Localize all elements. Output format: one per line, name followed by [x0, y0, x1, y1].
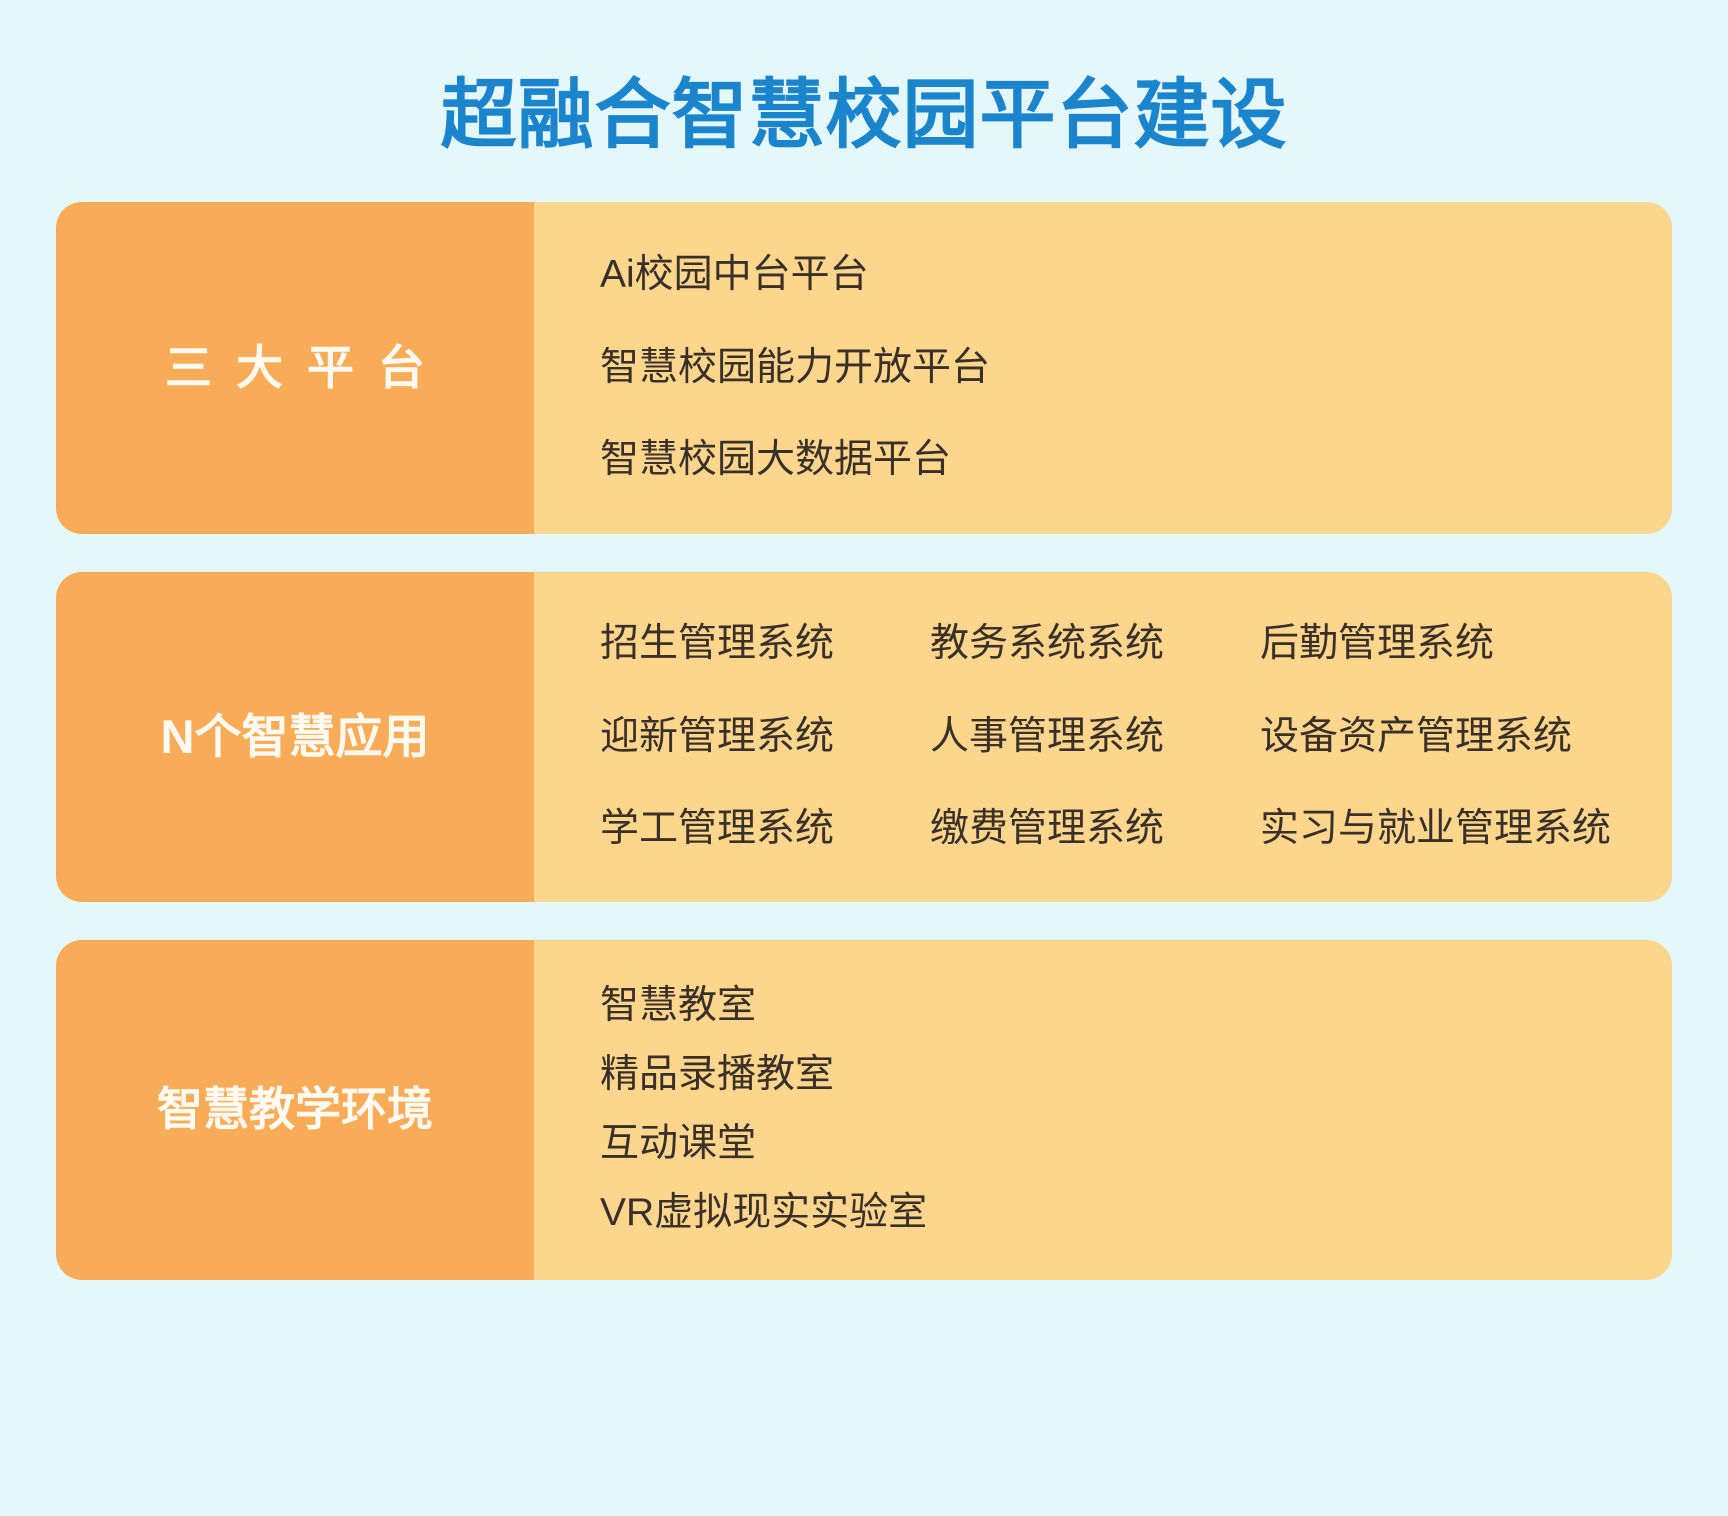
list-item: 互动课堂 — [600, 1124, 1672, 1165]
card-label-text-platforms: 三大平台 — [141, 340, 449, 396]
list-item: 设备资产管理系统 — [1260, 717, 1672, 758]
list-item: 实习与就业管理系统 — [1260, 809, 1672, 850]
list-item: Ai校园中台平台 — [600, 255, 1672, 296]
list-item: 智慧校园大数据平台 — [600, 440, 1672, 481]
card-label-panel-environment: 智慧教学环境 — [56, 940, 534, 1280]
card-teaching-environment: 智慧教学环境 智慧教室 精品录播教室 互动课堂 VR虚拟现实实验室 — [56, 940, 1672, 1280]
card-label-panel-platforms: 三大平台 — [56, 202, 534, 534]
list-item: 教务系统系统 — [930, 624, 1260, 665]
bottom-spacer — [52, 1280, 1676, 1366]
card-body-applications: 招生管理系统 教务系统系统 后勤管理系统 迎新管理系统 人事管理系统 设备资产管… — [534, 572, 1672, 902]
cards-container: 三大平台 Ai校园中台平台 智慧校园能力开放平台 智慧校园大数据平台 N个智慧应… — [52, 202, 1676, 1280]
list-item: 智慧教室 — [600, 986, 1672, 1027]
card-smart-applications: N个智慧应用 招生管理系统 教务系统系统 后勤管理系统 迎新管理系统 人事管理系… — [56, 572, 1672, 902]
list-item: 学工管理系统 — [600, 809, 930, 850]
card-body-platforms: Ai校园中台平台 智慧校园能力开放平台 智慧校园大数据平台 — [534, 202, 1672, 534]
list-item: VR虚拟现实实验室 — [600, 1193, 1672, 1234]
list-item: 智慧校园能力开放平台 — [600, 348, 1672, 389]
infographic-page: 超融合智慧校园平台建设 三大平台 Ai校园中台平台 智慧校园能力开放平台 智慧校… — [0, 0, 1728, 1516]
card-body-environment: 智慧教室 精品录播教室 互动课堂 VR虚拟现实实验室 — [534, 940, 1672, 1280]
list-item: 人事管理系统 — [930, 717, 1260, 758]
card-label-text-environment: 智慧教学环境 — [157, 1082, 433, 1137]
card-label-text-applications: N个智慧应用 — [161, 709, 430, 765]
list-item: 迎新管理系统 — [600, 717, 930, 758]
list-item: 后勤管理系统 — [1260, 624, 1672, 665]
title-section: 超融合智慧校园平台建设 — [52, 0, 1676, 202]
list-item: 缴费管理系统 — [930, 809, 1260, 850]
card-three-platforms: 三大平台 Ai校园中台平台 智慧校园能力开放平台 智慧校园大数据平台 — [56, 202, 1672, 534]
list-item: 精品录播教室 — [600, 1055, 1672, 1096]
list-item: 招生管理系统 — [600, 624, 930, 665]
card-label-panel-applications: N个智慧应用 — [56, 572, 534, 902]
page-title: 超融合智慧校园平台建设 — [441, 78, 1288, 154]
application-grid: 招生管理系统 教务系统系统 后勤管理系统 迎新管理系统 人事管理系统 设备资产管… — [600, 624, 1672, 851]
